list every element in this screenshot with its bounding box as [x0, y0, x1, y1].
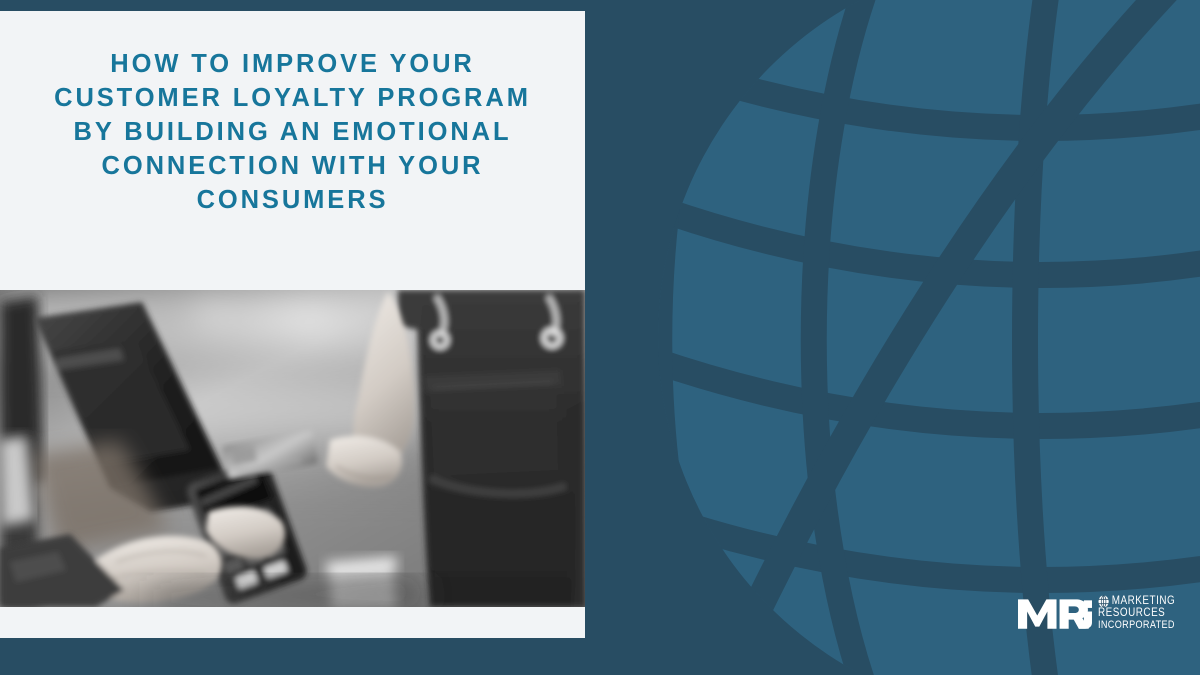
bottom-card-strip	[0, 607, 585, 638]
slide-canvas: MARKETING RESOURCES INCORPORATED How to …	[0, 0, 1200, 675]
logo-line-marketing: MARKETING	[1112, 596, 1175, 608]
logo-wordmark: MARKETING RESOURCES INCORPORATED	[1098, 595, 1175, 631]
hero-photo-image	[0, 290, 585, 607]
company-logo: MARKETING RESOURCES INCORPORATED	[1017, 593, 1188, 633]
mri-logomark-icon	[1017, 596, 1093, 630]
logo-line-resources: RESOURCES	[1098, 608, 1175, 620]
logo-line-incorporated: INCORPORATED	[1098, 620, 1175, 632]
title-card: How to Improve Your Customer Loyalty Pro…	[0, 11, 585, 290]
left-content-column: How to Improve Your Customer Loyalty Pro…	[0, 0, 585, 675]
background-globe-panel: MARKETING RESOURCES INCORPORATED	[585, 0, 1200, 675]
top-accent-band	[0, 0, 585, 11]
globe-wireframe-icon	[585, 0, 1200, 675]
hero-photo	[0, 290, 585, 607]
page-title: How to Improve Your Customer Loyalty Pro…	[0, 47, 585, 217]
bottom-accent-band	[0, 638, 585, 675]
